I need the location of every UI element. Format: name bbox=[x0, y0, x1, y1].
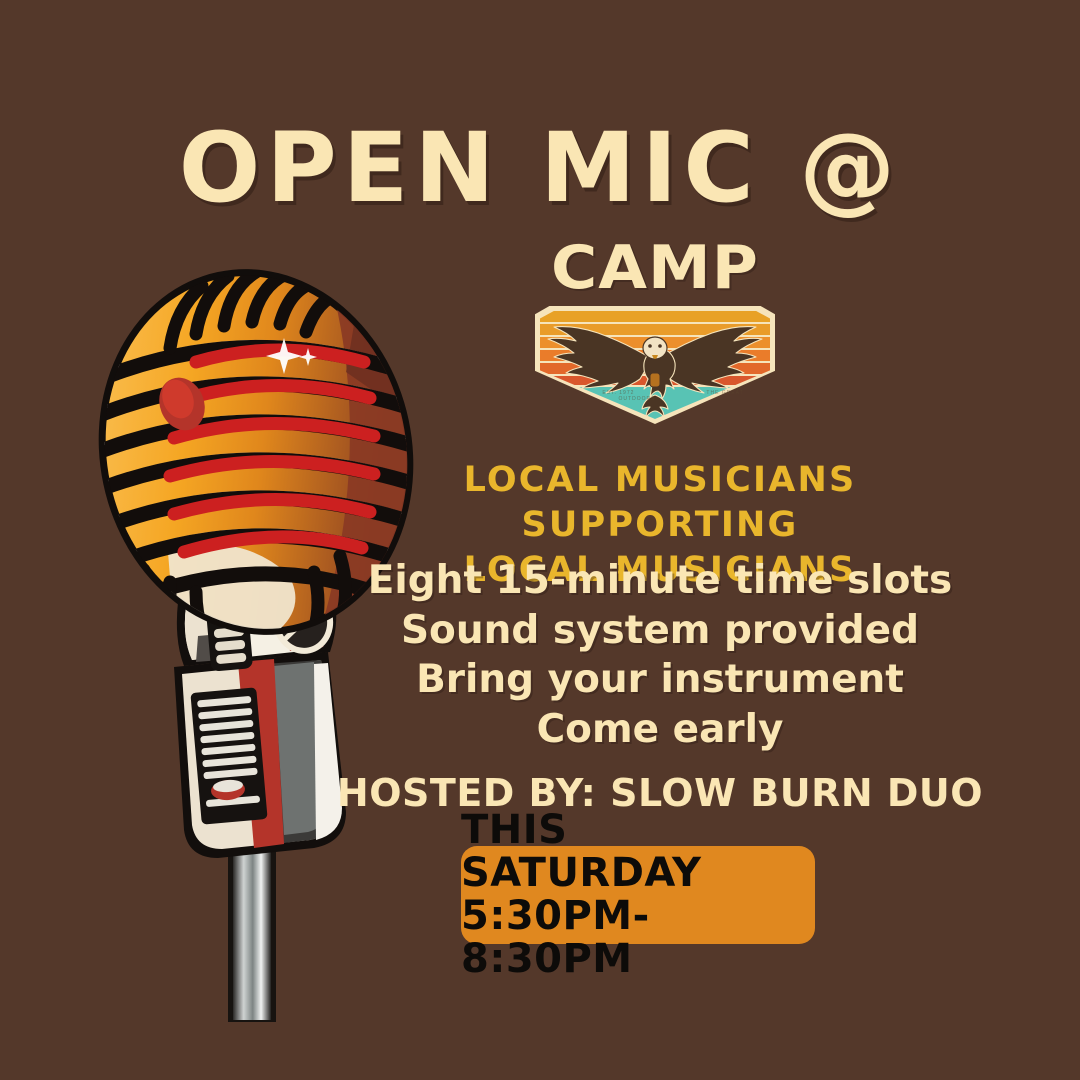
eagle-badge-icon: EST. 1972THE GREAT OUTDOORS bbox=[535, 306, 775, 424]
page-title: OPEN MIC @ bbox=[0, 118, 1080, 219]
detail-line-1: Eight 15-minute time slots bbox=[340, 556, 980, 606]
detail-line-2: Sound system provided bbox=[340, 606, 980, 656]
date-badge-day: THIS SATURDAY bbox=[461, 809, 815, 895]
eagle-icon bbox=[540, 311, 770, 419]
poster-canvas: OPEN MIC @ CAMP bbox=[0, 0, 1080, 1080]
date-badge-time: 5:30PM-8:30PM bbox=[461, 895, 815, 981]
detail-line-3: Bring your instrument bbox=[340, 655, 980, 705]
camp-logo: CAMP bbox=[512, 238, 798, 424]
subtitle-line-1: LOCAL MUSICIANS SUPPORTING bbox=[340, 458, 980, 548]
detail-line-4: Come early bbox=[340, 705, 980, 755]
camp-wordmark: CAMP bbox=[505, 238, 805, 298]
details-list: Eight 15-minute time slots Sound system … bbox=[340, 556, 980, 754]
date-time-badge: THIS SATURDAY 5:30PM-8:30PM bbox=[461, 846, 815, 944]
